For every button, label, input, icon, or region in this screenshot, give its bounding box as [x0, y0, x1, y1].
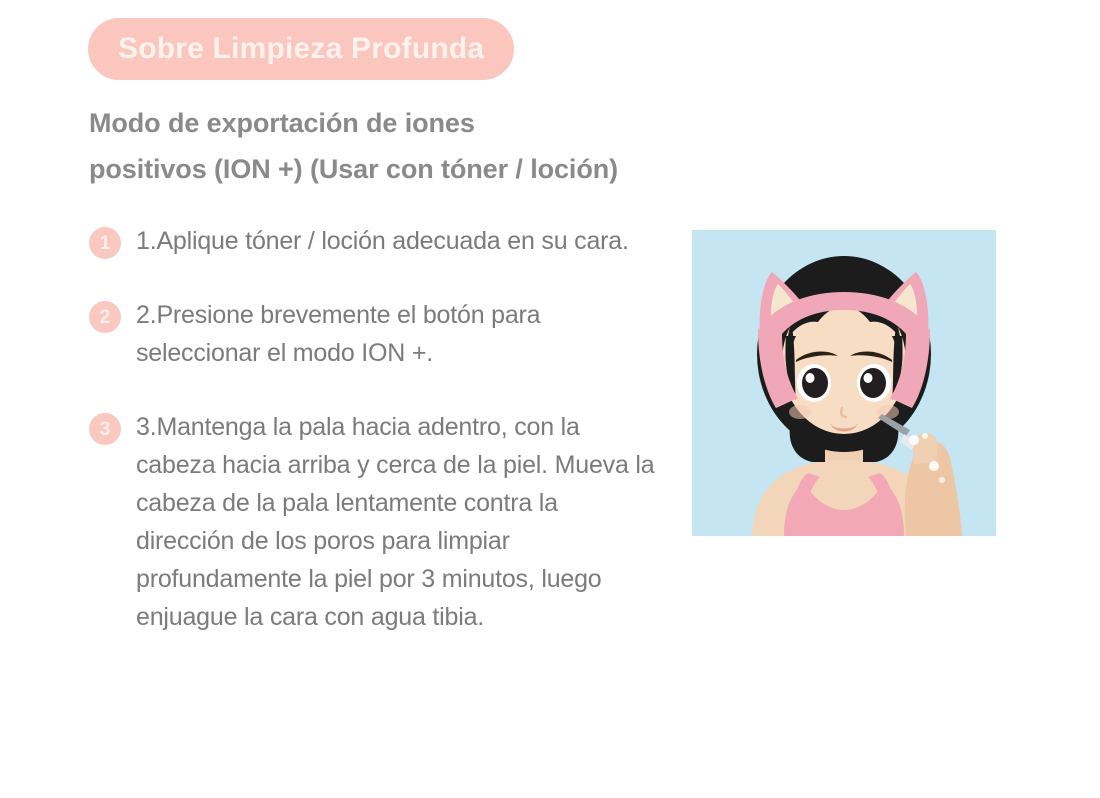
eye-pupil-left: [802, 368, 828, 398]
instruction-steps-list: 1 1.Aplique tóner / loción adecuada en s…: [89, 222, 669, 672]
blush-left: [789, 405, 811, 419]
sparkle-icon-4: [939, 477, 945, 483]
eye-highlight-right: [864, 373, 873, 383]
step-number-label: 1: [100, 234, 111, 253]
step-text-3: 3.Mantenga la pala hacia adentro, con la…: [136, 408, 656, 636]
step-number-label: 3: [100, 420, 111, 439]
info-card: Sobre Limpieza Profunda Modo de exportac…: [0, 0, 1100, 798]
list-item: 1 1.Aplique tóner / loción adecuada en s…: [89, 222, 669, 260]
sparkle-icon-2: [922, 433, 928, 439]
sparkle-icon-3: [929, 461, 939, 471]
step-text-2: 2.Presione brevemente el botón para sele…: [136, 296, 656, 372]
eye-pupil-right: [860, 368, 886, 398]
mode-subtitle-line-2: positivos (ION +) (Usar con tóner / loci…: [89, 146, 829, 192]
step-number-badge-2: 2: [89, 301, 121, 333]
eye-highlight-left: [806, 373, 815, 383]
section-title-badge: Sobre Limpieza Profunda: [88, 18, 514, 80]
section-title-label: Sobre Limpieza Profunda: [118, 32, 484, 66]
usage-illustration: [692, 230, 996, 536]
woman-using-device-illustration: [692, 230, 996, 536]
list-item: 3 3.Mantenga la pala hacia adentro, con …: [89, 408, 669, 636]
mode-subtitle: Modo de exportación de iones positivos (…: [89, 100, 829, 193]
mode-subtitle-line-1: Modo de exportación de iones: [89, 100, 829, 146]
list-item: 2 2.Presione brevemente el botón para se…: [89, 296, 669, 372]
sparkle-icon-1: [909, 435, 919, 445]
step-text-1: 1.Aplique tóner / loción adecuada en su …: [136, 222, 629, 260]
step-number-label: 2: [100, 308, 111, 327]
step-number-badge-1: 1: [89, 227, 121, 259]
step-number-badge-3: 3: [89, 413, 121, 445]
